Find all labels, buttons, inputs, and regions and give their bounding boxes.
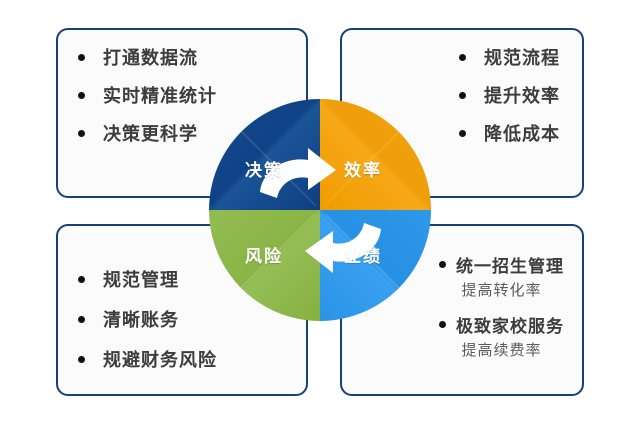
list-item: 统一招生管理 提高转化率 (439, 252, 564, 300)
list-item: 清晰账务 (78, 306, 217, 332)
bullet-dot-icon (459, 54, 466, 61)
bullet-dot-icon (78, 356, 85, 363)
wheel-label-performance: 业绩 (344, 242, 382, 267)
list-item: 降低成本 (459, 120, 560, 146)
bullet-dot-icon (78, 316, 85, 323)
bullet-dot-icon (439, 321, 446, 328)
list-item: 提升效率 (459, 82, 560, 108)
list-item: 规范流程 (459, 44, 560, 70)
list-item: 极致家校服务 提高续费率 (439, 312, 564, 360)
bullet-list-risk: 规范管理 清晰账务 规避财务风险 (78, 266, 217, 386)
wheel-svg (204, 94, 437, 327)
list-item: 规避财务风险 (78, 346, 217, 372)
bullet-dot-icon (78, 276, 85, 283)
bullet-label: 实时精准统计 (103, 82, 217, 108)
wheel-label-efficiency: 效率 (344, 156, 382, 181)
bullet-label: 清晰账务 (103, 306, 179, 332)
list-item: 规范管理 (78, 266, 217, 292)
list-item: 决策更科学 (78, 120, 217, 146)
bullet-subtitle: 提高转化率 (439, 279, 564, 300)
bullet-list-efficiency: 规范流程 提升效率 降低成本 (459, 44, 560, 158)
list-item: 打通数据流 (78, 44, 217, 70)
bullet-label: 统一招生管理 (456, 252, 564, 277)
bullet-list-decision: 打通数据流 实时精准统计 决策更科学 (78, 44, 217, 158)
wheel-label-decision: 决策 (245, 156, 283, 181)
bullet-label: 规范管理 (103, 266, 179, 292)
infographic-canvas: 打通数据流 实时精准统计 决策更科学 规范流程 提升效率 (0, 0, 640, 424)
bullet-subtitle: 提高续费率 (439, 339, 564, 360)
list-item: 实时精准统计 (78, 82, 217, 108)
quadrant-wheel: 决策 效率 风险 业绩 (204, 94, 437, 327)
bullet-label: 极致家校服务 (456, 312, 564, 337)
bullet-dot-icon (439, 261, 446, 268)
bullet-list-performance: 统一招生管理 提高转化率 极致家校服务 提高续费率 (439, 252, 564, 372)
bullet-label: 降低成本 (484, 120, 560, 146)
wheel-label-risk: 风险 (245, 242, 283, 267)
bullet-label: 规避财务风险 (103, 346, 217, 372)
bullet-dot-icon (78, 92, 85, 99)
bullet-label: 规范流程 (484, 44, 560, 70)
bullet-dot-icon (459, 130, 466, 137)
bullet-dot-icon (78, 130, 85, 137)
bullet-dot-icon (459, 92, 466, 99)
bullet-label: 打通数据流 (103, 44, 198, 70)
bullet-label: 提升效率 (484, 82, 560, 108)
bullet-dot-icon (78, 54, 85, 61)
bullet-label: 决策更科学 (103, 120, 198, 146)
